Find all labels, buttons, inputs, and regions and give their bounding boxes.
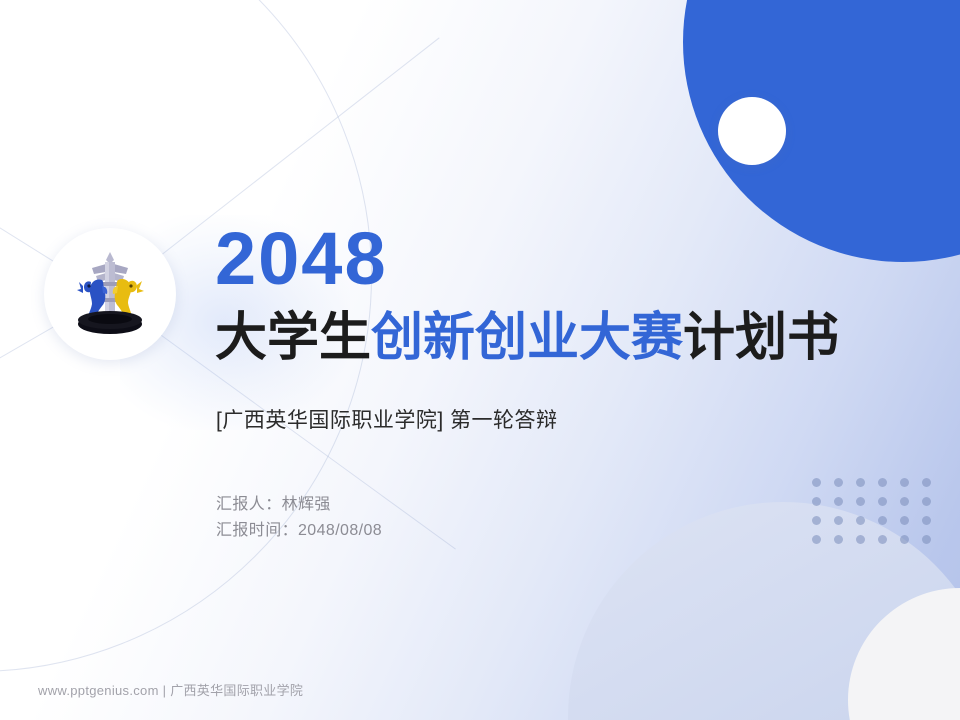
- presentation-meta: 汇报人：林辉强 汇报时间：2048/08/08: [216, 492, 382, 544]
- year-title: 2048: [215, 222, 388, 296]
- crest-icon: [62, 246, 158, 342]
- headline-tail: 计划书: [683, 309, 839, 367]
- date-line: 汇报时间：2048/08/08: [216, 518, 382, 544]
- page-title: 大学生创新创业大赛计划书: [215, 310, 839, 367]
- headline-accent: 创新创业大赛: [371, 309, 683, 367]
- subtitle: [广西英华国际职业学院] 第一轮答辩: [216, 406, 558, 435]
- slide-text-content: 2048 大学生创新创业大赛计划书 [广西英华国际职业学院] 第一轮答辩 汇报人…: [215, 0, 915, 720]
- crest-base: [78, 311, 142, 334]
- headline-lead: 大学生: [215, 309, 371, 367]
- presenter-line: 汇报人：林辉强: [216, 492, 382, 518]
- presentation-slide: 2048 大学生创新创业大赛计划书 [广西英华国际职业学院] 第一轮答辩 汇报人…: [0, 0, 960, 720]
- university-crest-logo: [44, 228, 176, 360]
- footer-text: www.pptgenius.com | 广西英华国际职业学院: [38, 680, 303, 699]
